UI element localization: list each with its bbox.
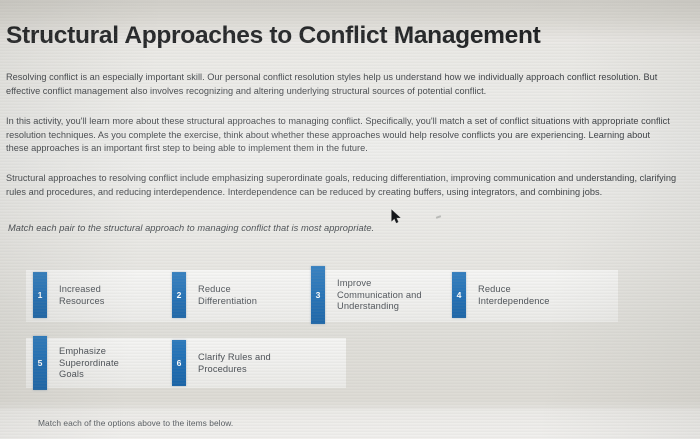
option-label-2: Reduce Differentiation <box>186 272 257 318</box>
option-label-5: Emphasize Superordinate Goals <box>47 336 119 390</box>
option-tile-5[interactable]: 5 Emphasize Superordinate Goals <box>33 336 119 390</box>
option-tile-4[interactable]: 4 Reduce Interdependence <box>452 272 550 318</box>
intro-paragraph-2: In this activity, you'll learn more abou… <box>6 115 674 155</box>
page-title: Structural Approaches to Conflict Manage… <box>6 22 694 50</box>
option-tile-3[interactable]: 3 Improve Communication and Understandin… <box>311 266 422 324</box>
footer-note: Match each of the options above to the i… <box>38 418 233 428</box>
option-label-1: Increased Resources <box>47 272 105 318</box>
option-number-6: 6 <box>172 340 186 386</box>
option-label-6: Clarify Rules and Procedures <box>186 340 271 386</box>
option-number-2: 2 <box>172 272 186 318</box>
option-tile-1[interactable]: 1 Increased Resources <box>33 272 105 318</box>
option-number-4: 4 <box>452 272 466 318</box>
option-number-1: 1 <box>33 272 47 318</box>
option-label-3: Improve Communication and Understanding <box>325 266 422 324</box>
intro-paragraph-1: Resolving conflict is an especially impo… <box>6 71 670 98</box>
match-instruction: Match each pair to the structural approa… <box>8 223 478 233</box>
option-label-4: Reduce Interdependence <box>466 272 550 318</box>
option-number-3: 3 <box>311 266 325 324</box>
option-number-5: 5 <box>33 336 47 390</box>
intro-paragraph-3: Structural approaches to resolving confl… <box>6 172 680 199</box>
activity-page: Structural Approaches to Conflict Manage… <box>0 0 700 439</box>
option-tile-2[interactable]: 2 Reduce Differentiation <box>172 272 257 318</box>
option-board: 1 Increased Resources 2 Reduce Different… <box>0 262 700 392</box>
option-tile-6[interactable]: 6 Clarify Rules and Procedures <box>172 340 271 386</box>
